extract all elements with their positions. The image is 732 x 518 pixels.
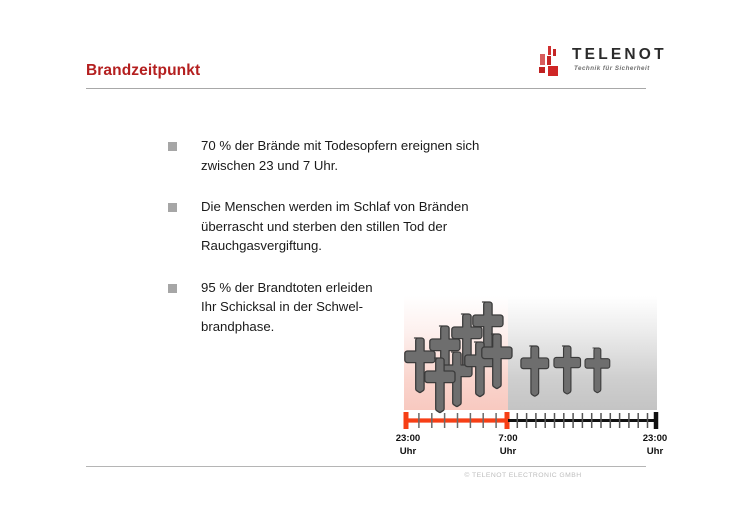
axis-label-mid: 7:00 Uhr xyxy=(486,432,530,458)
square-bullet-icon xyxy=(168,284,177,293)
axis-label-end: 23:00 Uhr xyxy=(633,432,677,458)
telenot-logo-mark-icon xyxy=(538,46,568,76)
footer-copyright: © TELENOT ELECTRONIC GMBH xyxy=(400,472,646,479)
axis-label-start: 23:00 Uhr xyxy=(386,432,430,458)
list-item: 70 % der Brände mit Todesopfern ereignen… xyxy=(168,136,568,175)
axis-tick-labels: 23:00 Uhr 7:00 Uhr 23:00 Uhr xyxy=(390,432,680,466)
square-bullet-icon xyxy=(168,203,177,212)
time-axis xyxy=(390,408,680,434)
logo-wordmark: TELENOT xyxy=(572,47,667,63)
list-item: Die Menschen werden im Schlaf von Brände… xyxy=(168,197,568,256)
bullet-text: Die Menschen werden im Schlaf von Brände… xyxy=(201,197,568,256)
victim-cross-symbols xyxy=(390,296,680,416)
night-cross-group xyxy=(405,302,512,412)
day-cross-group xyxy=(521,346,610,396)
fire-time-timeline-chart: 23:00 Uhr 7:00 Uhr 23:00 Uhr xyxy=(390,296,680,466)
bullet-text: 70 % der Brände mit Todesopfern ereignen… xyxy=(201,136,568,175)
page-title: Brandzeitpunkt xyxy=(86,62,200,80)
telenot-logo: TELENOT Technik für Sicherheit xyxy=(538,44,650,80)
axis-night-segment xyxy=(405,412,508,429)
square-bullet-icon xyxy=(168,142,177,151)
slide-brandzeitpunkt: Brandzeitpunkt TELENOT Technik für Siche… xyxy=(0,0,732,518)
logo-tagline: Technik für Sicherheit xyxy=(574,65,650,72)
axis-day-segment xyxy=(508,412,657,429)
header-divider xyxy=(86,88,646,89)
footer-divider xyxy=(86,466,646,467)
